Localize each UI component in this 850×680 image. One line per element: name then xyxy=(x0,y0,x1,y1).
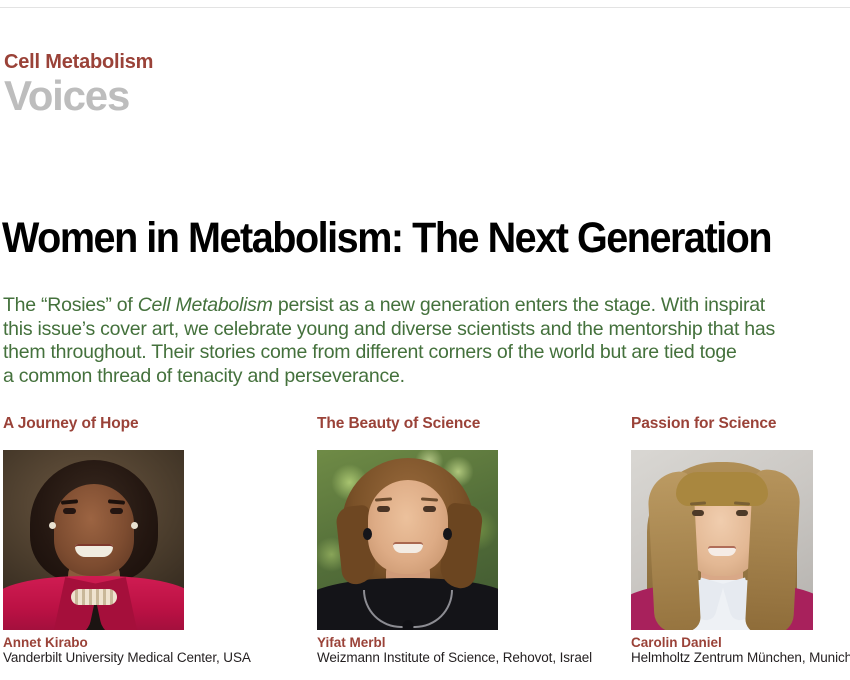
top-divider xyxy=(0,7,850,8)
voice-caption-3: Carolin Daniel Helmholtz Zentrum München… xyxy=(631,635,850,666)
lead-paragraph: The “Rosies” of Cell Metabolism persist … xyxy=(3,294,850,388)
voice-heading-1: A Journey of Hope xyxy=(3,415,317,434)
voice-column-2: The Beauty of Science xyxy=(317,415,631,666)
lead-line-3: them throughout. Their stories come from… xyxy=(3,341,850,365)
lead-line-1-before: The “Rosies” of xyxy=(3,294,138,316)
voice-affiliation-1: Vanderbilt University Medical Center, US… xyxy=(3,650,317,666)
portrait-annet-kirabo xyxy=(3,450,184,630)
voice-heading-3: Passion for Science xyxy=(631,415,850,434)
page-title: Women in Metabolism: The Next Generation xyxy=(2,214,850,262)
lead-line-1-after: persist as a new generation enters the s… xyxy=(273,294,765,316)
voice-column-3: Passion for Science xyxy=(631,415,850,666)
journal-title-italic: Cell Metabolism xyxy=(138,294,273,316)
voice-caption-2: Yifat Merbl Weizmann Institute of Scienc… xyxy=(317,635,631,666)
voice-heading-2: The Beauty of Science xyxy=(317,415,631,434)
lead-line-2: this issue’s cover art, we celebrate you… xyxy=(3,318,850,342)
voices-grid: A Journey of Hope xyxy=(3,415,850,666)
article-page: Cell Metabolism Voices Women in Metaboli… xyxy=(0,0,850,680)
voice-affiliation-3: Helmholtz Zentrum München, Munich, Germa… xyxy=(631,650,850,666)
voice-column-1: A Journey of Hope xyxy=(3,415,317,666)
masthead: Cell Metabolism Voices xyxy=(4,52,850,117)
portrait-carolin-daniel xyxy=(631,450,813,630)
voice-caption-1: Annet Kirabo Vanderbilt University Medic… xyxy=(3,635,317,666)
voice-name-1: Annet Kirabo xyxy=(3,635,317,650)
lead-line-1: The “Rosies” of Cell Metabolism persist … xyxy=(3,294,850,318)
portrait-yifat-merbl xyxy=(317,450,498,630)
lead-line-4: a common thread of tenacity and persever… xyxy=(3,365,850,389)
section-name: Voices xyxy=(4,75,850,117)
journal-name: Cell Metabolism xyxy=(4,52,850,73)
voice-name-2: Yifat Merbl xyxy=(317,635,631,650)
voice-affiliation-2: Weizmann Institute of Science, Rehovot, … xyxy=(317,650,631,666)
voice-name-3: Carolin Daniel xyxy=(631,635,850,650)
